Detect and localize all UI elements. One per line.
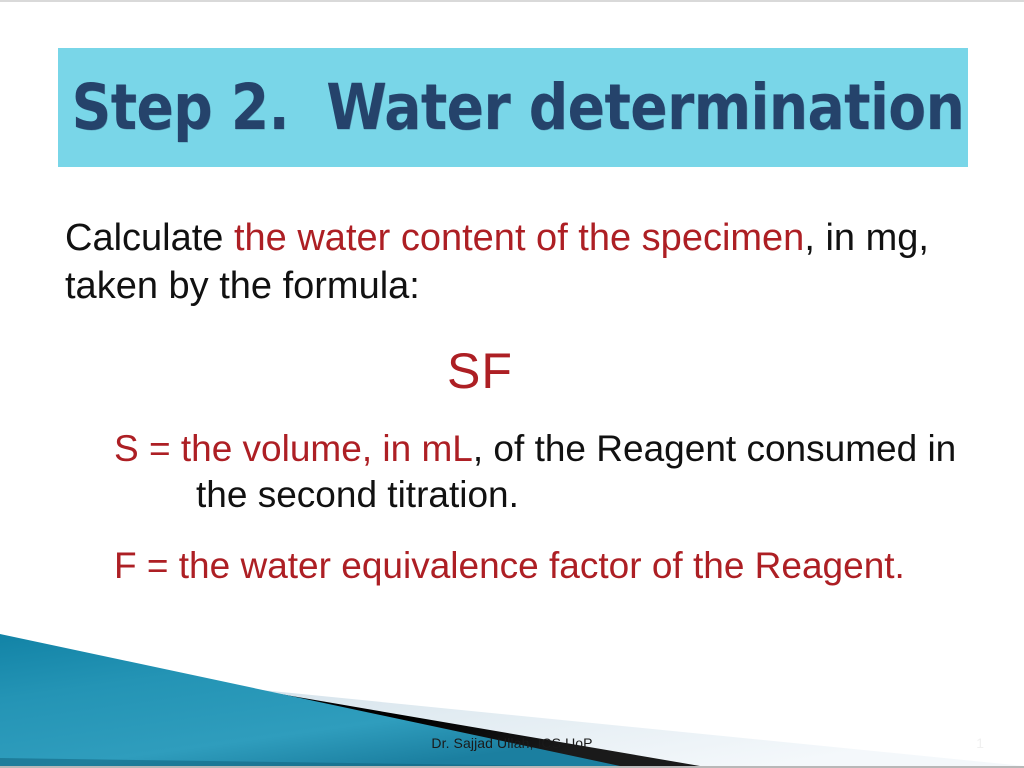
body-text-highlight: the water content of the specimen xyxy=(234,217,804,259)
deco-base-shadow xyxy=(0,758,560,766)
definition-f: F = the water equivalence factor of the … xyxy=(114,543,994,589)
definition-s-black: , of the Reagent consumed in xyxy=(473,428,956,469)
slide-body-text: Calculate the water content of the speci… xyxy=(65,214,985,310)
presentation-slide: Step 2. Water determination Calculate th… xyxy=(0,0,1024,768)
formula-expression: SF xyxy=(0,342,960,400)
definition-s: S = the volume, in mL, of the Reagent co… xyxy=(114,426,994,518)
body-text-calculate: Calculate xyxy=(65,217,234,259)
slide-footer: Dr. Sajjad Ullah, ICS UoP xyxy=(0,735,1024,751)
body-paragraph: Calculate the water content of the speci… xyxy=(65,214,985,310)
definition-s-red: S = the volume, in mL xyxy=(114,428,473,469)
slide-title: Step 2. Water determination xyxy=(58,76,964,139)
slide-number: 1 xyxy=(976,735,984,751)
definition-s-continuation: the second titration. xyxy=(114,472,994,518)
slide-title-band: Step 2. Water determination xyxy=(58,48,968,167)
